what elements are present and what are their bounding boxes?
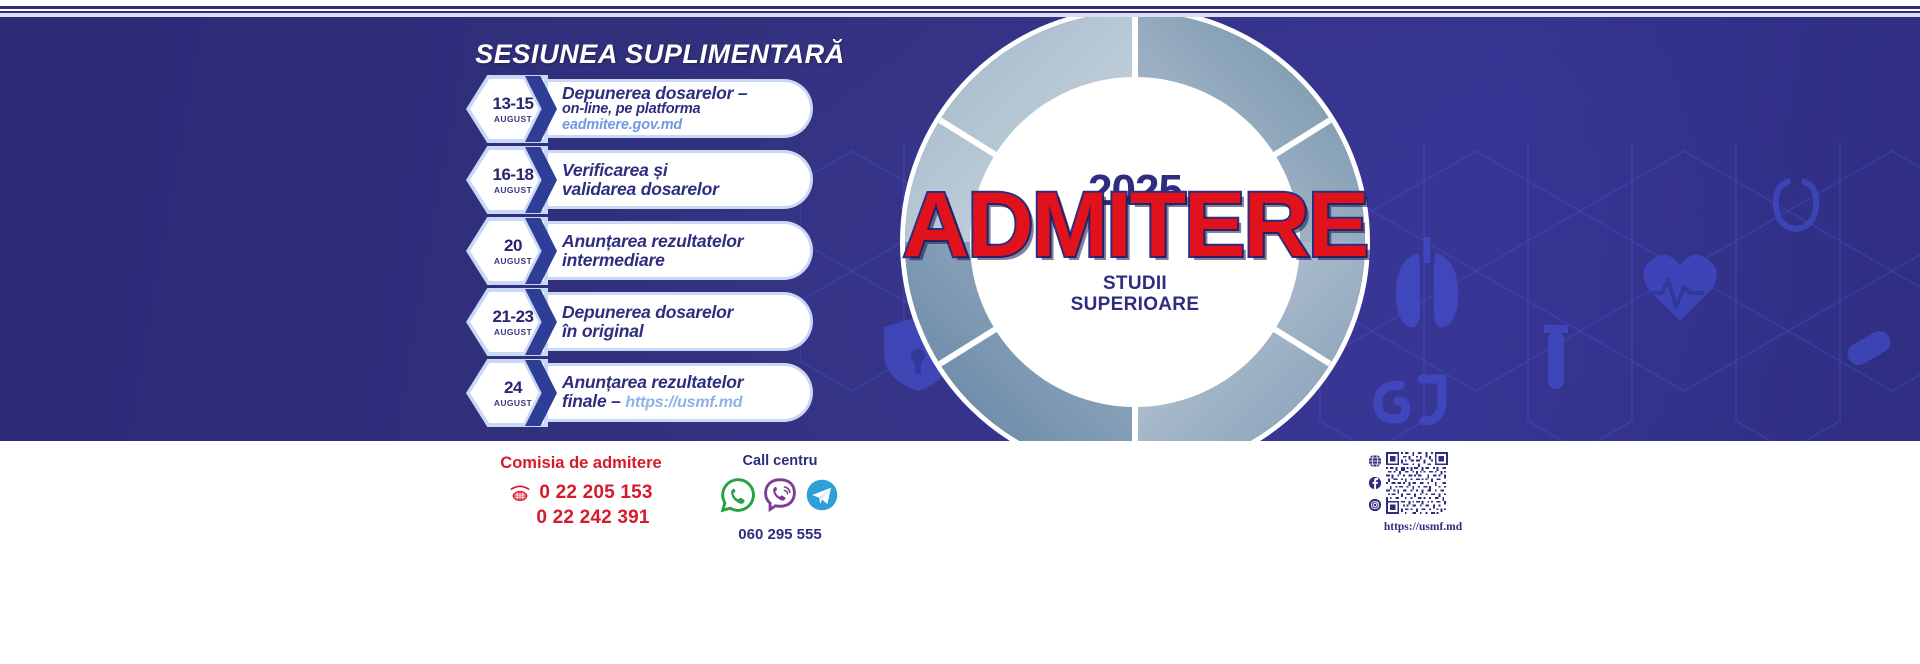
timeline-row[interactable]: Anunțarea rezultatelor finale – https://… <box>470 363 810 423</box>
timeline-date: 20 <box>504 237 522 254</box>
facebook-icon[interactable] <box>1368 476 1382 495</box>
timeline-row[interactable]: Anunțarea rezultatelor intermediare 20 A… <box>470 221 810 281</box>
qr-url-label[interactable]: https://usmf.md <box>1368 521 1478 533</box>
timeline-line1: Depunerea dosarelor – <box>562 83 747 103</box>
timeline-month: AUGUST <box>494 256 532 266</box>
timeline-link[interactable]: https://usmf.md <box>625 394 742 411</box>
timeline-row[interactable]: Verificarea și validarea dosarelor 16-18… <box>470 150 810 210</box>
timeline-line2: în original <box>562 321 643 341</box>
page-title: SESIUNEA SUPLIMENTARĂ <box>360 39 960 70</box>
timeline-link[interactable]: eadmitere.gov.md <box>562 118 747 133</box>
logo-subtitle: STUDII SUPERIOARE <box>1071 273 1200 316</box>
timeline-line1: Depunerea dosarelor <box>562 302 733 322</box>
commission-title: Comisia de admitere <box>466 454 696 473</box>
timeline-line1: Anunțarea rezultatelor <box>562 372 743 392</box>
timeline-date: 13-15 <box>493 95 534 112</box>
timeline-month: AUGUST <box>494 398 532 408</box>
admission-banner: SESIUNEA SUPLIMENTARĂ Depunerea dosarelo… <box>0 17 1920 441</box>
telegram-icon[interactable] <box>804 477 840 518</box>
timeline-row[interactable]: Depunerea dosarelor – on-line, pe platfo… <box>470 79 810 139</box>
timeline-line1: Verificarea și <box>562 160 668 180</box>
globe-icon[interactable] <box>1368 454 1382 473</box>
timeline-date-chip: 20 AUGUST <box>470 221 544 281</box>
timeline-text: Verificarea și validarea dosarelor <box>562 161 719 198</box>
timeline-date: 24 <box>504 379 522 396</box>
call-center-block: Call centru <box>700 453 860 543</box>
banner-page: SESIUNEA SUPLIMENTARĂ Depunerea dosarelo… <box>0 0 1920 664</box>
timeline-month: AUGUST <box>494 327 532 337</box>
timeline-text: Anunțarea rezultatelor finale – https://… <box>562 373 743 412</box>
qr-row <box>1368 452 1478 517</box>
timeline-row[interactable]: Depunerea dosarelor în original 21-23 AU… <box>470 292 810 352</box>
timeline-list: Depunerea dosarelor – on-line, pe platfo… <box>470 79 810 434</box>
timeline-pill: Anunțarea rezultatelor finale – https://… <box>518 366 810 419</box>
timeline-month: AUGUST <box>494 114 532 124</box>
timeline-date-chip: 24 AUGUST <box>470 363 544 423</box>
timeline-text: Depunerea dosarelor în original <box>562 303 733 340</box>
commission-phone-2[interactable]: 0 22 242 391 <box>490 507 696 529</box>
logo-subtitle-line2: SUPERIOARE <box>1071 294 1200 315</box>
timeline-pill: Anunțarea rezultatelor intermediare <box>518 224 810 277</box>
timeline-date-chip: 16-18 AUGUST <box>470 150 544 210</box>
call-center-icons <box>700 477 860 518</box>
commission-block: Comisia de admitere 0 22 205 153 <box>466 454 696 529</box>
timeline-line2: validarea dosarelor <box>562 179 719 199</box>
timeline-date-chip: 21-23 AUGUST <box>470 292 544 352</box>
timeline-text: Depunerea dosarelor – on-line, pe platfo… <box>562 84 747 133</box>
qr-code[interactable] <box>1386 452 1448 514</box>
timeline-pill: Depunerea dosarelor în original <box>518 295 810 348</box>
timeline-pill: Depunerea dosarelor – on-line, pe platfo… <box>518 82 810 135</box>
timeline-date-chip: 13-15 AUGUST <box>470 79 544 139</box>
telephone-icon <box>509 484 531 502</box>
call-center-number[interactable]: 060 295 555 <box>700 526 860 543</box>
qr-block: https://usmf.md <box>1368 452 1478 533</box>
logo-title: ADMITERE <box>865 183 1405 268</box>
timeline-line2: finale – <box>562 391 625 411</box>
timeline-pill: Verificarea și validarea dosarelor <box>518 153 810 206</box>
admission-logo: 2025 STUDII SUPERIOARE ADMITERE <box>900 17 1370 441</box>
social-icons <box>1368 452 1382 517</box>
commission-phone-row: 0 22 205 153 <box>466 482 696 504</box>
timeline-date: 21-23 <box>493 308 534 325</box>
timeline-date: 16-18 <box>493 166 534 183</box>
footer: Comisia de admitere 0 22 205 153 <box>0 441 1920 664</box>
call-center-title: Call centru <box>700 453 860 469</box>
timeline-line2: intermediare <box>562 250 665 270</box>
top-rule-primary <box>0 6 1920 9</box>
whatsapp-icon[interactable] <box>720 477 756 518</box>
viber-icon[interactable] <box>762 477 798 518</box>
timeline-line1: Anunțarea rezultatelor <box>562 231 743 251</box>
timeline-line2: on-line, pe platforma <box>562 102 747 117</box>
instagram-icon[interactable] <box>1368 498 1382 517</box>
top-rule-secondary <box>0 11 1920 13</box>
commission-phone-1[interactable]: 0 22 205 153 <box>539 482 652 504</box>
timeline-month: AUGUST <box>494 185 532 195</box>
timeline-text: Anunțarea rezultatelor intermediare <box>562 232 743 269</box>
